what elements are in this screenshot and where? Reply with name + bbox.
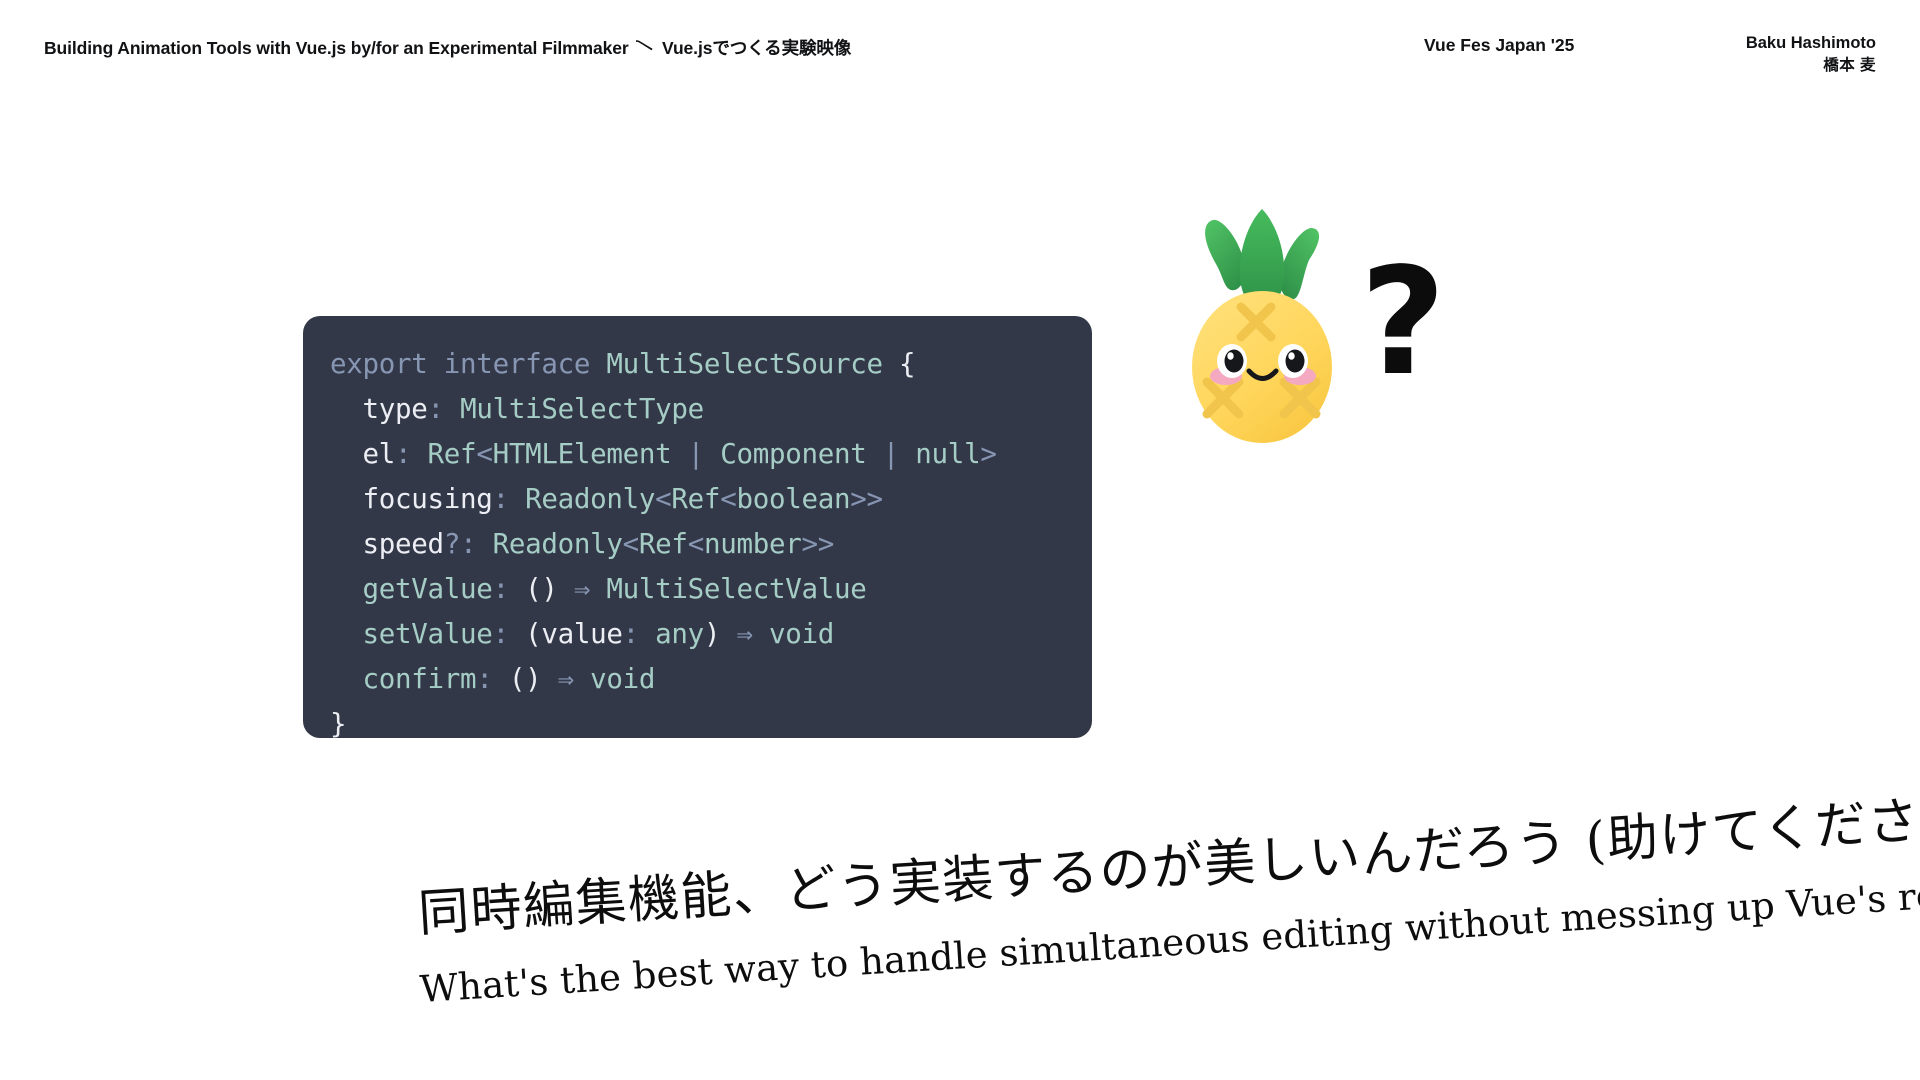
code-token: confirm [363,663,477,695]
code-token: Readonly [525,483,655,515]
code-token: : [493,573,526,605]
code-token: Ref [639,528,688,560]
code-token: ⇒ [720,618,769,650]
code-token: getValue [363,573,493,605]
code-token: export interface [330,348,606,380]
code-line: getValue: () ⇒ MultiSelectValue [330,567,1092,612]
code-token: ) [704,618,720,650]
code-token: speed [363,528,444,560]
code-token: boolean [736,483,850,515]
code-token: > [980,438,996,470]
code-token: () [525,573,558,605]
code-line: } [330,702,1092,738]
code-token: { [883,348,916,380]
code-token: () [509,663,542,695]
slide-header: Building Animation Tools with Vue.js by/… [0,0,1920,96]
code-token: focusing [363,483,493,515]
code-token: | [867,438,916,470]
code-token: void [590,663,655,695]
code-line: confirm: () ⇒ void [330,657,1092,702]
code-token: >> [850,483,883,515]
code-token: value [541,618,622,650]
caption-japanese: 同時編集機能、どう実装するのが美しいんだろう (助けてください) [416,774,1920,946]
code-token: : [428,393,461,425]
code-token: number [704,528,802,560]
code-line: el: Ref<HTMLElement | Component | null> [330,432,1092,477]
code-token: Readonly [493,528,623,560]
code-token: el [363,438,396,470]
question-mark-icon: ? [1360,248,1444,396]
presentation-title: Building Animation Tools with Vue.js by/… [44,35,851,60]
code-snippet-card: export interface MultiSelectSource { typ… [303,316,1092,738]
author-block: Baku Hashimoto 橋本 麦 [1746,32,1876,77]
author-name-ja: 橋本 麦 [1746,55,1876,77]
code-token: < [623,528,639,560]
title-separator-icon: 〳 [632,36,657,56]
code-token: any [655,618,704,650]
code-token: : [395,438,428,470]
code-token: : [476,663,509,695]
code-token: : [623,618,656,650]
code-token: MultiSelectType [460,393,704,425]
code-token: setValue [363,618,493,650]
code-token: | [671,438,720,470]
code-token: < [655,483,671,515]
pineapple-mascot [1183,204,1343,446]
code-token: ?: [444,528,493,560]
presentation-title-en: Building Animation Tools with Vue.js by/… [44,38,629,58]
code-token: ⇒ [558,573,607,605]
code-token: HTMLElement [493,438,672,470]
presentation-title-ja: Vue.jsでつくる実験映像 [662,38,851,58]
caption-english: What's the best way to handle simultaneo… [419,864,1920,1011]
code-token: } [330,708,346,738]
code-token: >> [802,528,835,560]
code-token: Ref [428,438,477,470]
code-token: ( [525,618,541,650]
code-line: type: MultiSelectType [330,387,1092,432]
code-line: export interface MultiSelectSource { [330,342,1092,387]
code-token: < [476,438,492,470]
code-token: < [720,483,736,515]
code-token: ⇒ [541,663,590,695]
event-name: Vue Fes Japan '25 [1424,35,1574,56]
code-line: focusing: Readonly<Ref<boolean>> [330,477,1092,522]
code-token: < [688,528,704,560]
code-token: : [493,618,526,650]
code-token: : [493,483,526,515]
code-line: setValue: (value: any) ⇒ void [330,612,1092,657]
code-token: void [769,618,834,650]
code-token: Component [720,438,866,470]
code-token: MultiSelectValue [606,573,866,605]
code-token: MultiSelectSource [606,348,882,380]
code-line: speed?: Readonly<Ref<number>> [330,522,1092,567]
code-token: null [915,438,980,470]
code-token: type [363,393,428,425]
author-name-en: Baku Hashimoto [1746,32,1876,55]
code-token: Ref [671,483,720,515]
